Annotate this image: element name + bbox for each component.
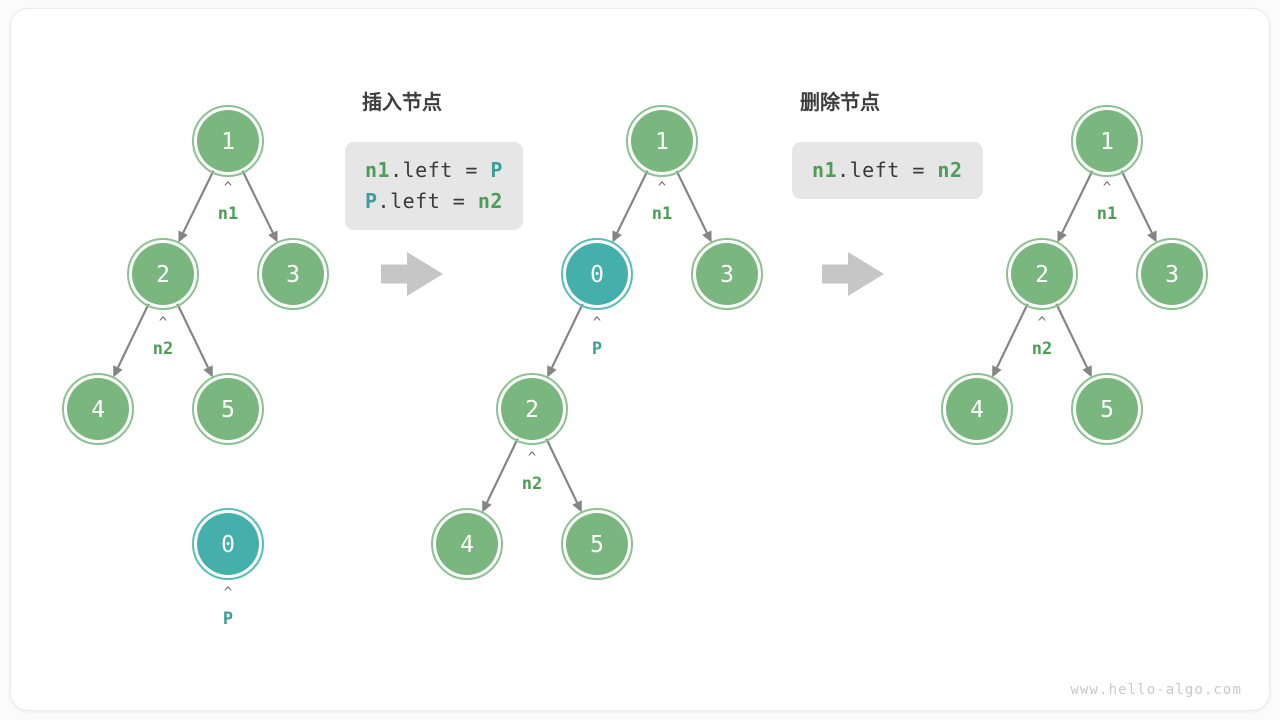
tree-edge xyxy=(997,304,1028,368)
pointer-caret-icon: ^ xyxy=(528,450,536,466)
pointer-label-n1: n1 xyxy=(218,204,238,224)
tree-node-1[interactable]: 1 xyxy=(193,106,263,176)
node-value-label: 1 xyxy=(1100,129,1114,155)
diagram-canvas: 123450^n1^n2^P103245^n1^P^n212345^n1^n2 xyxy=(0,0,1280,720)
tree-node-3[interactable]: 3 xyxy=(692,239,762,309)
pointer-label-P: P xyxy=(592,339,602,359)
tree-edge xyxy=(1121,171,1151,233)
diagram-stage: 123450^n1^n2^P103245^n1^P^n212345^n1^n2 … xyxy=(0,0,1280,720)
node-value-label: 3 xyxy=(1165,262,1179,288)
pointer-caret-icon: ^ xyxy=(593,315,601,331)
pointer-caret-icon: ^ xyxy=(224,180,232,196)
code-token: .left = xyxy=(378,189,478,213)
pointer-label-n1: n1 xyxy=(1097,204,1117,224)
tree-node-5[interactable]: 5 xyxy=(193,374,263,444)
tree-node-5[interactable]: 5 xyxy=(1072,374,1142,444)
code-line: P.left = n2 xyxy=(365,186,503,217)
tree-node-4[interactable]: 4 xyxy=(63,374,133,444)
tree-node-2[interactable]: 2 xyxy=(128,239,198,309)
node-value-label: 1 xyxy=(221,129,235,155)
node-value-label: 2 xyxy=(525,397,539,423)
pointer-caret-icon: ^ xyxy=(159,315,167,331)
node-value-label: 1 xyxy=(655,129,669,155)
tree-node-2[interactable]: 2 xyxy=(1007,239,1077,309)
tree-edge xyxy=(617,171,647,233)
code-token: P xyxy=(490,158,503,182)
node-value-label: 5 xyxy=(221,397,235,423)
code-token: .left = xyxy=(390,158,490,182)
pointer-label-n1: n1 xyxy=(652,204,672,224)
tree-node-3[interactable]: 3 xyxy=(258,239,328,309)
code-token: n1 xyxy=(812,158,837,182)
tree-edge xyxy=(676,171,706,233)
node-value-label: 3 xyxy=(720,262,734,288)
pointer-caret-icon: ^ xyxy=(658,180,666,196)
pointer-label-n2: n2 xyxy=(153,339,173,359)
insert-code-box: n1.left = PP.left = n2 xyxy=(345,142,523,230)
tree-edge xyxy=(177,304,208,368)
node-value-label: 0 xyxy=(221,532,235,558)
tree-node-4[interactable]: 4 xyxy=(432,509,502,579)
node-value-label: 4 xyxy=(970,397,984,423)
node-value-label: 2 xyxy=(1035,262,1049,288)
delete-panel-title: 删除节点 xyxy=(800,86,880,115)
panel-before: 123450^n1^n2^P xyxy=(63,106,328,629)
node-value-label: 3 xyxy=(286,262,300,288)
site-watermark: www.hello-algo.com xyxy=(1070,682,1242,698)
tree-edge xyxy=(546,439,577,503)
pointer-label-n2: n2 xyxy=(522,474,542,494)
code-token: n2 xyxy=(478,189,503,213)
delete-code-box: n1.left = n2 xyxy=(792,142,983,199)
tree-node-1[interactable]: 1 xyxy=(1072,106,1142,176)
transition-arrow-delete xyxy=(822,252,884,296)
tree-edge xyxy=(1056,304,1087,368)
tree-node-0[interactable]: 0 xyxy=(562,239,632,309)
tree-edge xyxy=(1062,171,1092,233)
insert-panel-title: 插入节点 xyxy=(362,86,442,115)
pointer-label-P: P xyxy=(223,609,233,629)
code-token: n2 xyxy=(937,158,962,182)
code-token: n1 xyxy=(365,158,390,182)
tree-node-1[interactable]: 1 xyxy=(627,106,697,176)
pointer-caret-icon: ^ xyxy=(224,585,232,601)
tree-edge xyxy=(242,171,272,233)
node-value-label: 4 xyxy=(460,532,474,558)
tree-edge xyxy=(487,439,518,503)
node-value-label: 5 xyxy=(590,532,604,558)
node-value-label: 0 xyxy=(590,262,604,288)
node-value-label: 4 xyxy=(91,397,105,423)
tree-node-0[interactable]: 0 xyxy=(193,509,263,579)
pointer-caret-icon: ^ xyxy=(1103,180,1111,196)
tree-node-5[interactable]: 5 xyxy=(562,509,632,579)
code-token: P xyxy=(365,189,378,213)
tree-node-4[interactable]: 4 xyxy=(942,374,1012,444)
code-line: n1.left = n2 xyxy=(812,155,963,186)
tree-node-3[interactable]: 3 xyxy=(1137,239,1207,309)
tree-node-2[interactable]: 2 xyxy=(497,374,567,444)
tree-edge xyxy=(552,304,583,368)
code-line: n1.left = P xyxy=(365,155,503,186)
node-value-label: 5 xyxy=(1100,397,1114,423)
node-value-label: 2 xyxy=(156,262,170,288)
code-token: .left = xyxy=(837,158,937,182)
pointer-label-n2: n2 xyxy=(1032,339,1052,359)
pointer-caret-icon: ^ xyxy=(1038,315,1046,331)
tree-edge xyxy=(183,171,213,233)
transition-arrow-insert xyxy=(381,252,443,296)
tree-edge xyxy=(118,304,149,368)
